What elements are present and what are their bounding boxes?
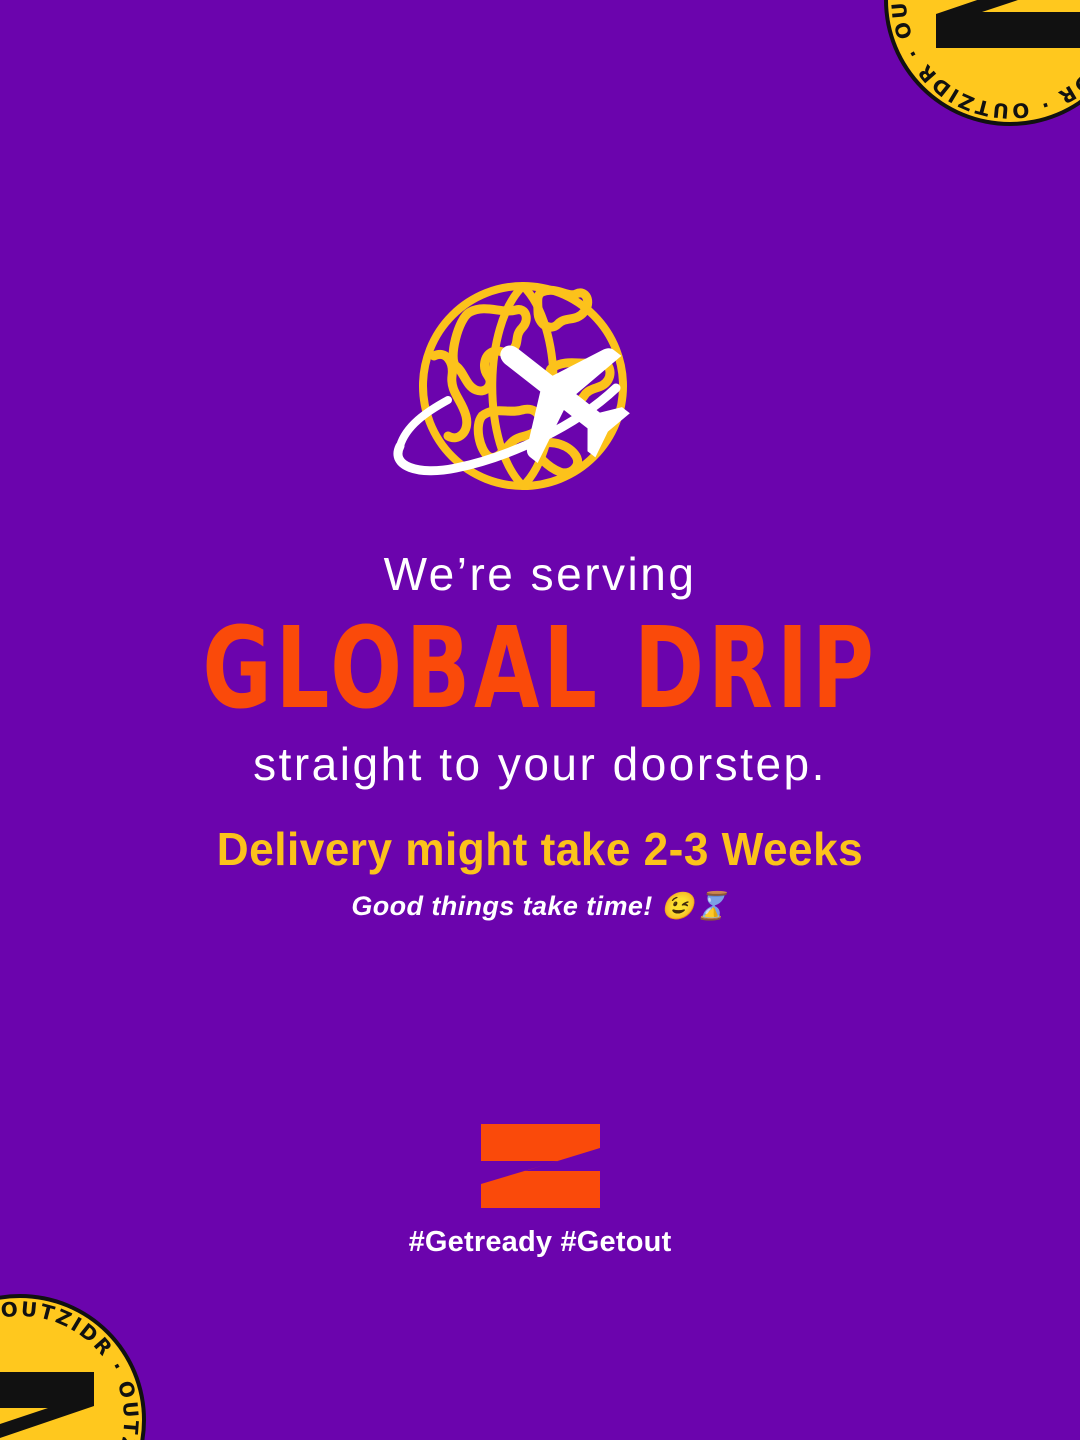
headline-post-text: straight to your doorstep. xyxy=(0,738,1080,791)
footer-block: #Getready #Getout xyxy=(0,1122,1080,1259)
outzidr-badge-top-right: OUTZIDR · OUTZIDR · OUTZIDR · OUTZIDR · … xyxy=(880,0,1080,130)
delivery-estimate-text: Delivery might take 2-3 Weeks xyxy=(22,822,1059,876)
outzidr-badge-bottom-left: OUTZIDR · OUTZIDR · OUTZIDR · OUTZIDR · … xyxy=(0,1290,150,1440)
headline-pre-text: We’re serving xyxy=(0,548,1080,601)
hashtags-text: #Getready #Getout xyxy=(409,1226,672,1259)
delivery-subtext: Good things take time! 😉⌛ xyxy=(0,890,1080,922)
outzidr-z-logo xyxy=(478,1122,603,1210)
headline-block: We’re serving GLOBAL DRIP straight to yo… xyxy=(0,548,1080,791)
poster-canvas: OUTZIDR · OUTZIDR · OUTZIDR · OUTZIDR · … xyxy=(0,0,1080,1440)
delivery-notice-block: Delivery might take 2-3 Weeks Good thing… xyxy=(0,822,1080,922)
globe-with-airplane-icon xyxy=(0,276,1080,506)
page-title: GLOBAL DRIP xyxy=(43,607,1037,730)
